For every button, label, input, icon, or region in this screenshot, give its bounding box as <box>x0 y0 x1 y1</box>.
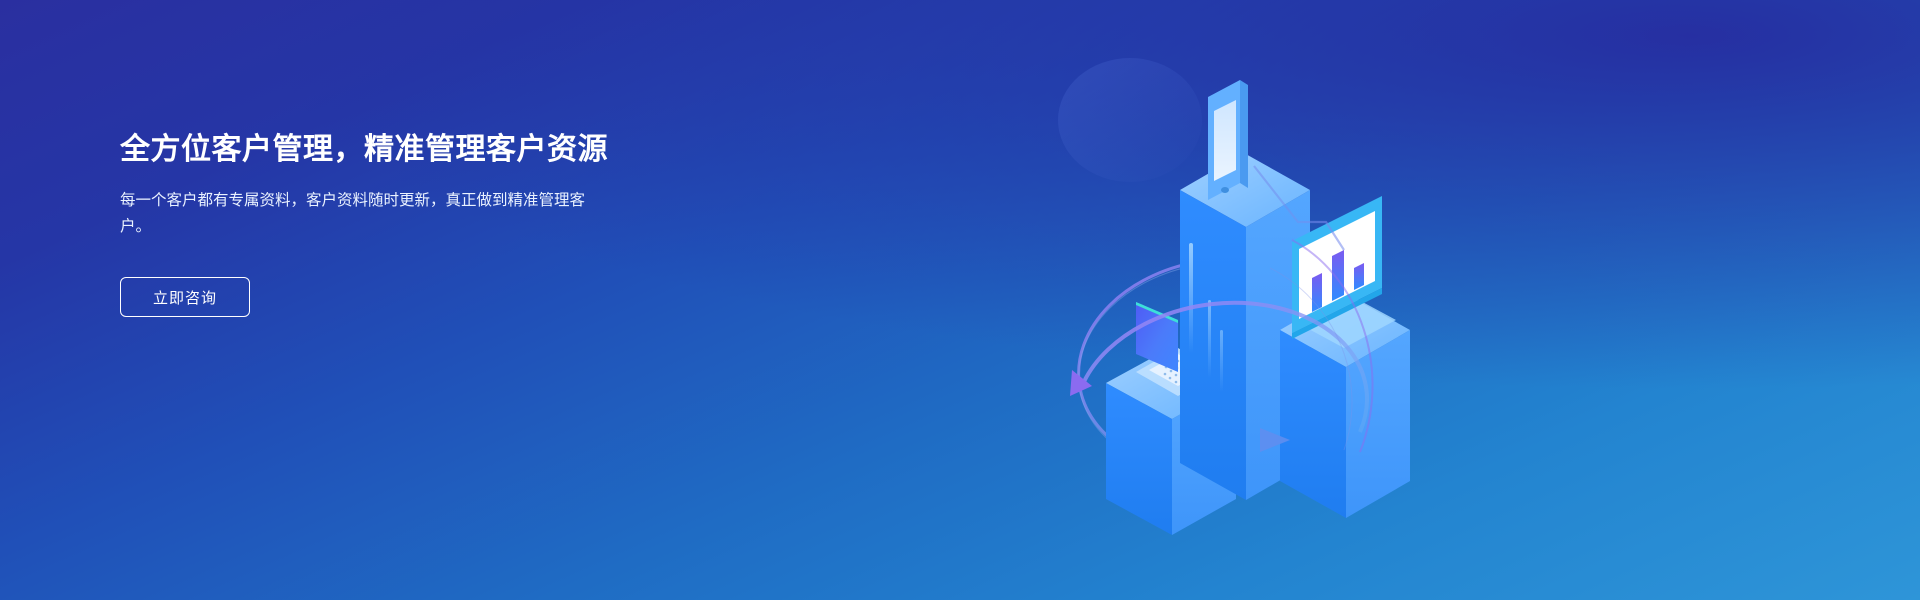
hero-subtitle: 每一个客户都有专属资料，客户资料随时更新，真正做到精准管理客户。 <box>120 188 600 239</box>
orbit-arc-front <box>1082 303 1367 432</box>
left-pillar-face-right <box>1172 383 1236 535</box>
pillar-glow-streak-1 <box>1189 243 1193 353</box>
monitor-stand <box>1292 292 1396 348</box>
pillar-glow-streak-3 <box>1220 330 1223 392</box>
left-pillar-face-left <box>1106 383 1172 535</box>
background-halo <box>1058 58 1202 182</box>
hero-illustration <box>940 0 1540 600</box>
orbit-ring-back-thin <box>1065 245 1372 492</box>
laptop-screen-top-edge <box>1136 302 1178 323</box>
page-title: 全方位客户管理，精准管理客户资源 <box>120 132 760 168</box>
center-pillar <box>1180 153 1310 500</box>
bar-chart-monitor-icon <box>1292 196 1396 348</box>
left-pillar <box>1106 348 1236 535</box>
monitor-bezel-bottom <box>1292 288 1382 339</box>
tablet-icon <box>1208 80 1248 200</box>
monitor-chart-bars <box>1312 250 1364 312</box>
orbit-arc-outer-right-2 <box>1270 268 1352 450</box>
connector-line <box>1254 166 1344 250</box>
tablet-screen <box>1214 100 1236 181</box>
consult-now-button[interactable]: 立即咨询 <box>120 277 250 317</box>
right-pillar-top <box>1280 293 1410 367</box>
laptop-keyboard <box>1149 354 1208 386</box>
orbit-arrow-right <box>1260 428 1290 452</box>
right-pillar-face-left <box>1280 330 1346 518</box>
isometric-pillars-graphic <box>940 0 1540 600</box>
laptop-keys <box>1164 360 1192 384</box>
center-pillar-face-left <box>1180 190 1246 500</box>
chart-bar-3 <box>1354 263 1364 290</box>
left-pillar-top <box>1106 348 1236 419</box>
laptop-screen <box>1136 302 1178 372</box>
center-pillar-face-right <box>1246 190 1310 500</box>
tablet-body-side <box>1240 80 1248 188</box>
orbit-arrow-left <box>1070 370 1092 396</box>
center-pillar-top <box>1180 153 1310 227</box>
tablet-body <box>1208 80 1240 200</box>
chart-bar-1 <box>1312 273 1322 312</box>
right-pillar <box>1280 293 1410 518</box>
laptop-icon <box>1136 302 1220 396</box>
tablet-home-button <box>1221 187 1229 193</box>
right-pillar-face-right <box>1346 330 1410 518</box>
pillar-glow-streak-2 <box>1208 300 1211 378</box>
monitor-screen <box>1299 211 1375 319</box>
hero-copy-block: 全方位客户管理，精准管理客户资源 每一个客户都有专属资料，客户资料随时更新，真正… <box>120 132 760 317</box>
laptop-base <box>1136 348 1220 396</box>
chart-bar-2 <box>1332 250 1344 301</box>
orbit-ring-back <box>1065 242 1372 489</box>
hero-banner: 全方位客户管理，精准管理客户资源 每一个客户都有专属资料，客户资料随时更新，真正… <box>0 0 1920 600</box>
orbit-arc-outer-right <box>1292 240 1373 452</box>
monitor-frame <box>1292 196 1382 333</box>
